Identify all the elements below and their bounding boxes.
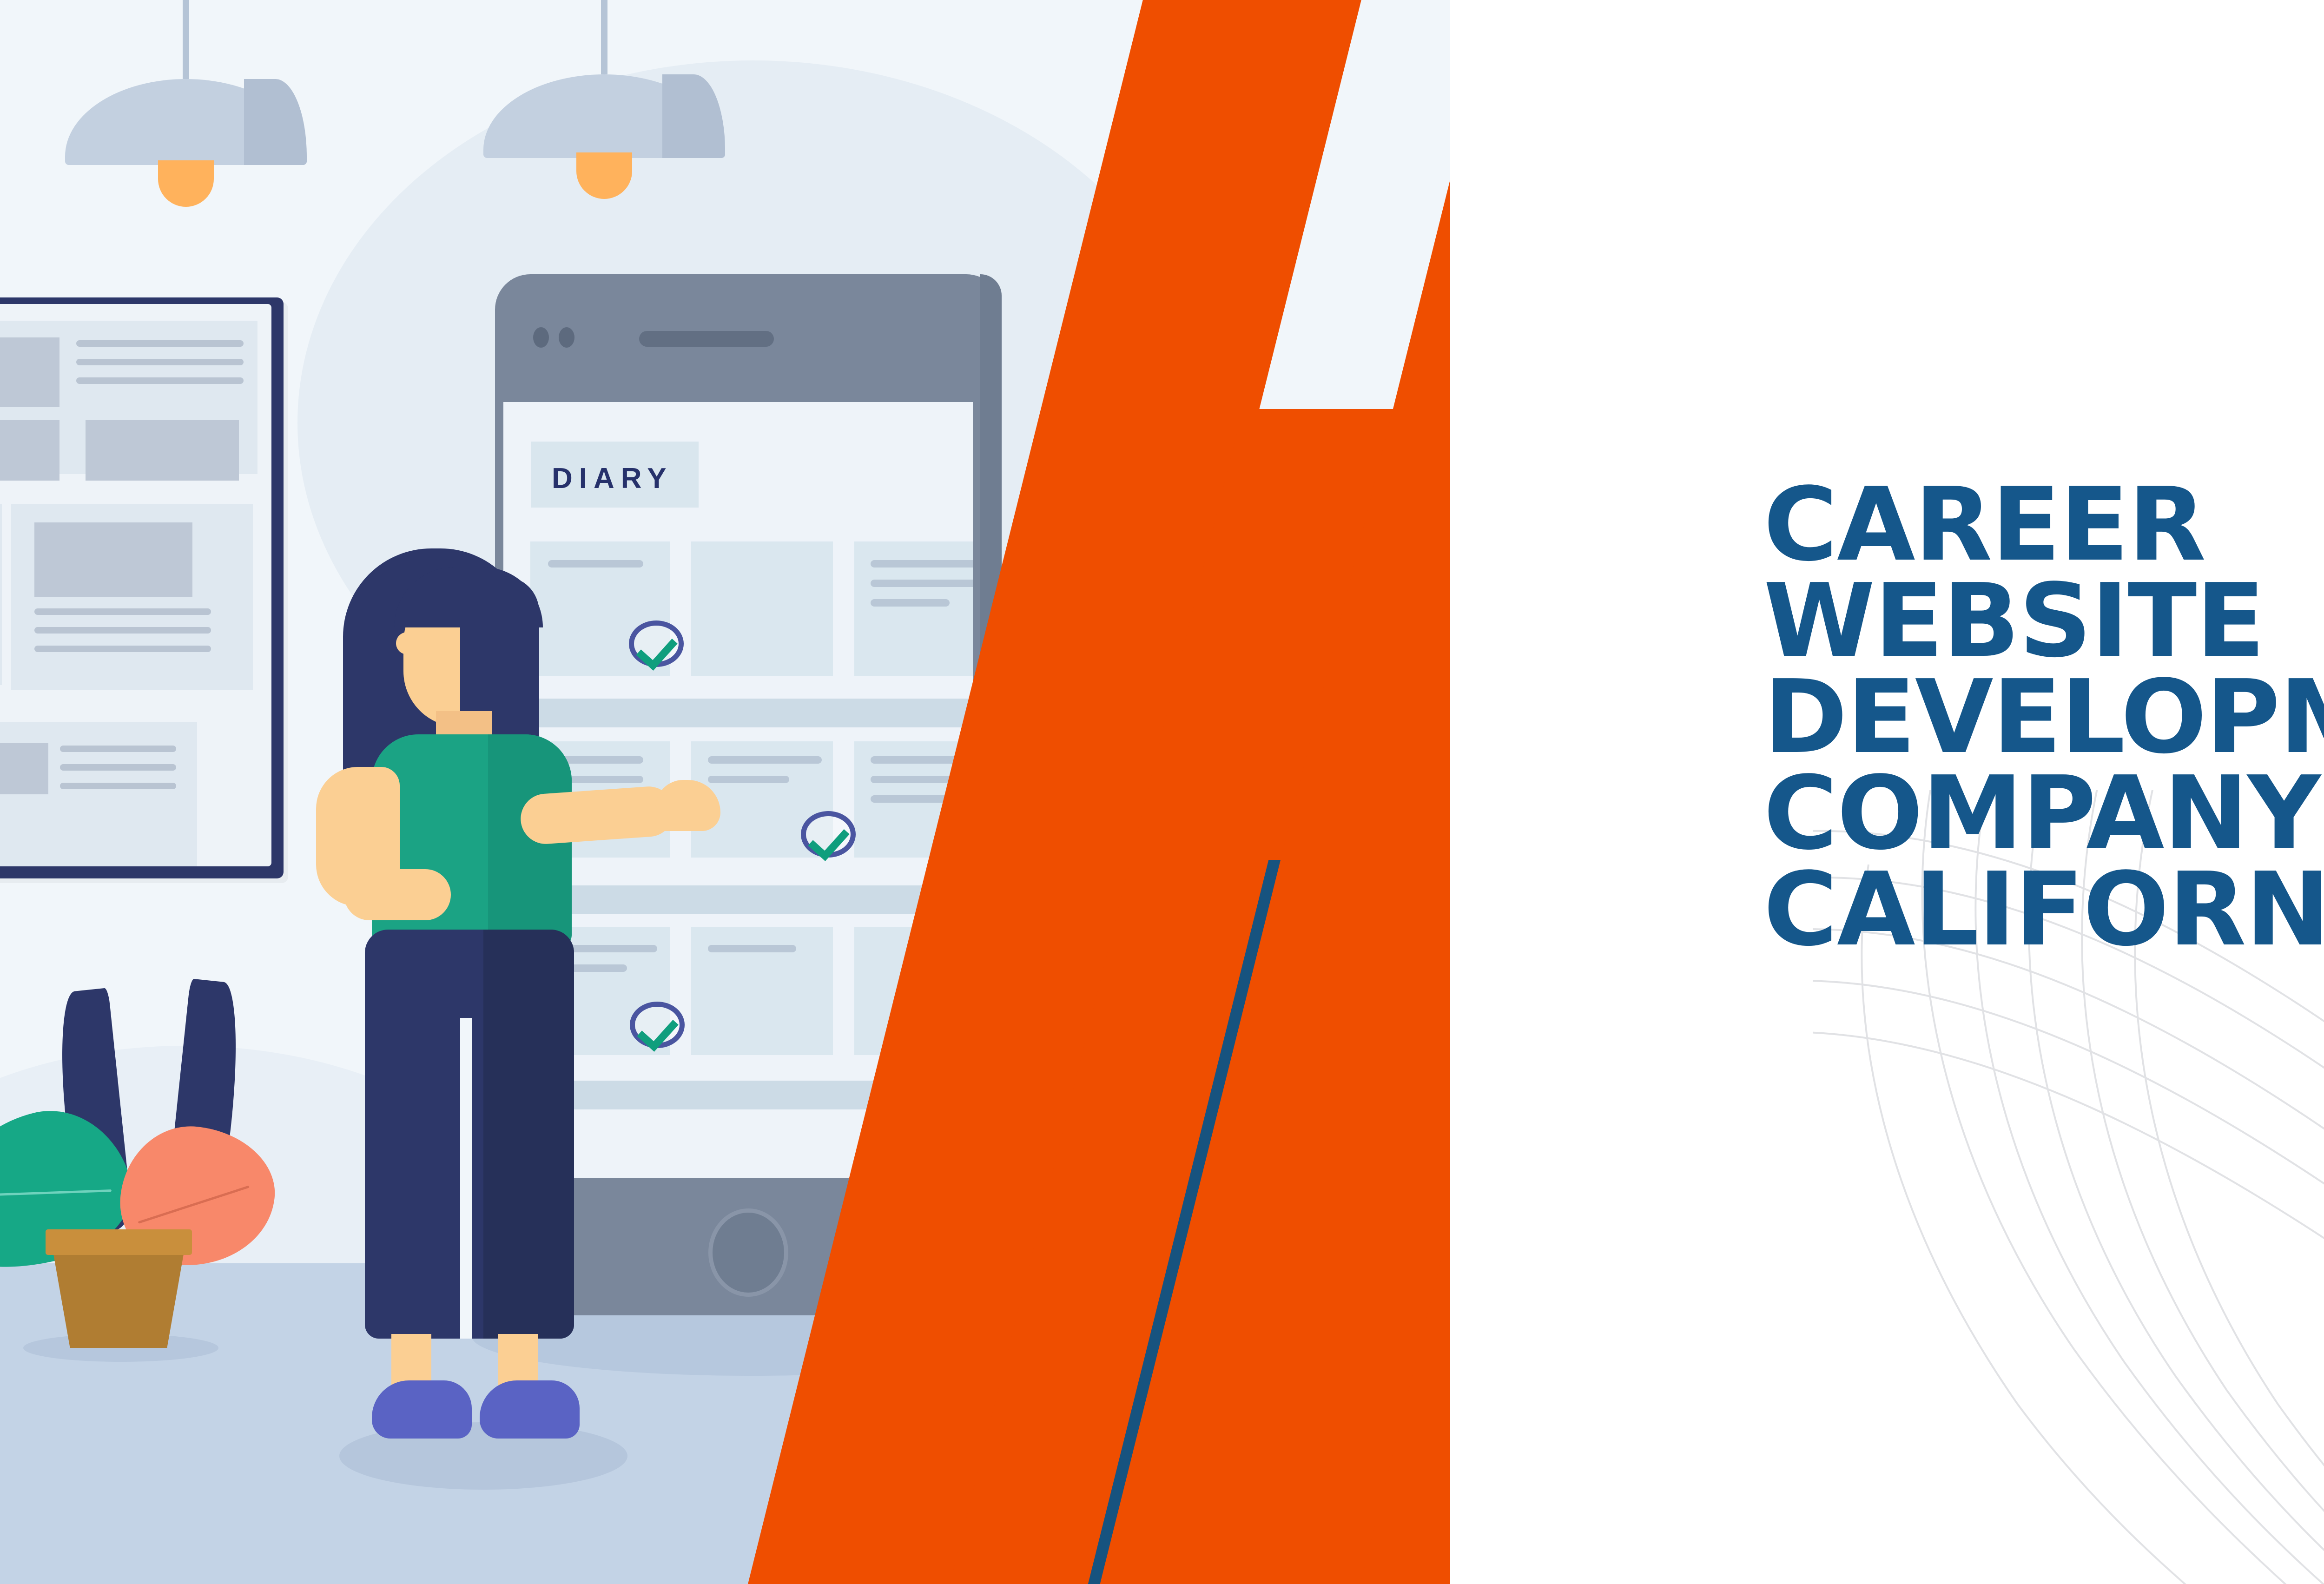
headline-line-1: CAREER [1763,477,2324,573]
headline-line-4: COMPANY IN [1763,766,2324,862]
potted-plant [0,962,293,1445]
lamp-cord [601,0,607,74]
content-panel: iwebnext Technext Technosoft Pvt. Ltd. C… [1450,0,2324,1584]
pendant-lamp-right [483,0,725,186]
phone-camera-icon [533,327,549,348]
diary-title-chip: DIARY [531,442,699,508]
checkmark-icon [801,811,856,858]
plant-pot-rim [46,1229,192,1255]
headline-line-3: DEVELOPMENT [1763,669,2324,766]
lamp-shade [483,74,725,158]
headline-line-2: WEBSITE [1763,573,2324,669]
plant-pot [51,1241,186,1348]
phone-sensor-icon [559,327,574,348]
page-title: CAREER WEBSITE DEVELOPMENT COMPANY IN CA… [1763,477,2324,958]
diary-title: DIARY [552,462,673,495]
phone-speaker-icon [639,331,774,347]
lamp-shade [65,79,307,165]
wall-frame [0,297,284,878]
lamp-cord [183,0,189,79]
phone-home-button [708,1208,788,1297]
pendant-lamp-left [65,0,307,214]
banner-canvas: DIARY [0,0,2324,1584]
person-presenter [288,548,641,1445]
headline-line-5: CALIFORNIA [1763,862,2324,958]
wall-frame-content [0,304,271,866]
lamp-bulb [158,160,214,207]
